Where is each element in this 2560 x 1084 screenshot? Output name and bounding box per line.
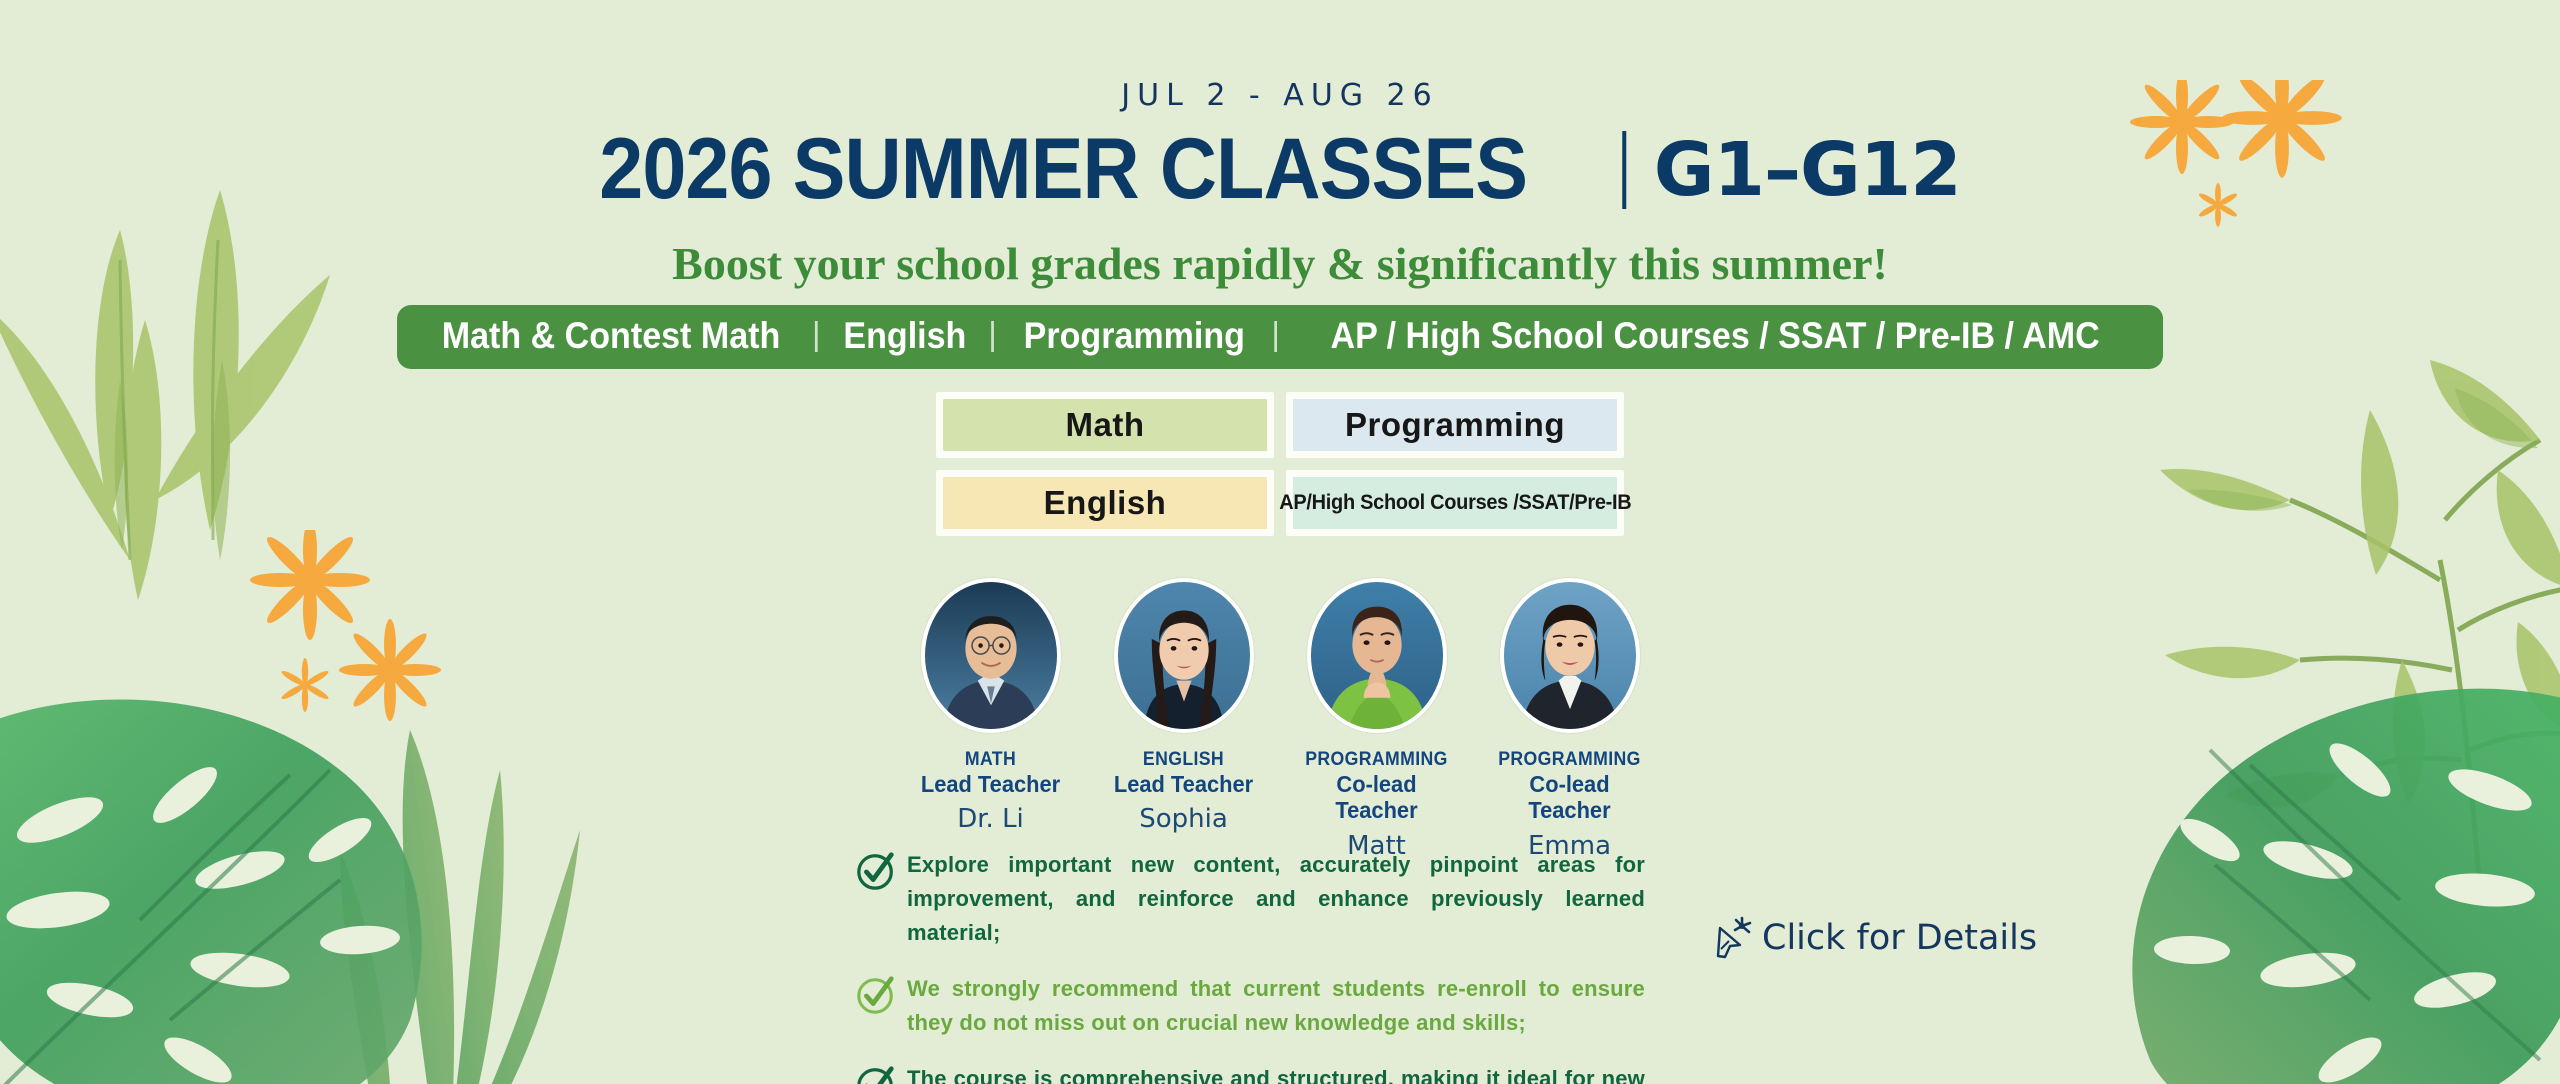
course-separator-3: | <box>1271 315 1280 353</box>
category-tile-grid: Math Programming English AP/High School … <box>936 392 1624 536</box>
teacher-role: Lead Teacher <box>912 771 1069 797</box>
category-tile-ap-label: AP/High School Courses /SSAT/Pre-IB <box>1279 491 1631 515</box>
check-circle-icon <box>855 850 907 892</box>
benefit-item: The course is comprehensive and structur… <box>855 1062 1645 1084</box>
category-tile-english[interactable]: English <box>936 470 1274 536</box>
avatar <box>1307 578 1447 733</box>
teacher-card-programming-emma: PROGRAMMING Co-lead Teacher Emma <box>1487 578 1652 861</box>
benefit-text: Explore important new content, accuratel… <box>907 848 1645 950</box>
check-circle-icon <box>855 1064 907 1084</box>
course-separator-1: | <box>812 315 821 353</box>
category-tile-math-label: Math <box>1066 406 1145 444</box>
course-separator-2: | <box>988 315 997 353</box>
benefit-item: Explore important new content, accuratel… <box>855 848 1645 950</box>
page-subtitle: Boost your school grades rapidly & signi… <box>672 237 1888 290</box>
category-tile-ap[interactable]: AP/High School Courses /SSAT/Pre-IB <box>1286 470 1624 536</box>
category-tile-english-label: English <box>1044 484 1167 522</box>
benefits-list: Explore important new content, accuratel… <box>855 848 1645 1084</box>
category-tile-ap-fill: AP/High School Courses /SSAT/Pre-IB <box>1293 477 1617 529</box>
benefit-item: We strongly recommend that current stude… <box>855 972 1645 1040</box>
teacher-name: Dr. Li <box>908 804 1073 834</box>
course-segment-english: English <box>839 315 969 357</box>
title-divider <box>1622 131 1626 209</box>
teacher-name: Sophia <box>1101 804 1266 834</box>
category-tile-programming-label: Programming <box>1345 406 1565 444</box>
category-tile-programming-fill: Programming <box>1293 399 1617 451</box>
avatar <box>1114 578 1254 733</box>
teacher-role: Co-lead Teacher <box>1491 771 1648 824</box>
avatar <box>1500 578 1640 733</box>
avatar <box>921 578 1061 733</box>
teacher-list: MATH Lead Teacher Dr. Li <box>908 578 1652 861</box>
category-tile-programming[interactable]: Programming <box>1286 392 1624 458</box>
check-circle-icon <box>855 974 907 1016</box>
benefit-text: We strongly recommend that current stude… <box>907 972 1645 1040</box>
teacher-subject: ENGLISH <box>1107 749 1260 771</box>
page-title: 2026 SUMMER CLASSES G1–G12 <box>599 120 1960 219</box>
benefit-text: The course is comprehensive and structur… <box>907 1062 1645 1084</box>
category-tile-math-fill: Math <box>943 399 1267 451</box>
date-range: JUL 2 - AUG 26 <box>1121 78 1438 113</box>
cursor-click-icon <box>1712 916 1752 960</box>
category-tile-english-fill: English <box>943 477 1267 529</box>
course-segment-ap: AP / High School Courses / SSAT / Pre-IB… <box>1327 315 2104 357</box>
teacher-subject: MATH <box>914 749 1067 771</box>
teacher-card-english: ENGLISH Lead Teacher Sophia <box>1101 578 1266 861</box>
course-segment-math: Math & Contest Math <box>438 315 784 357</box>
summer-classes-banner: JUL 2 - AUG 26 2026 SUMMER CLASSES G1–G1… <box>0 0 2560 1084</box>
teacher-subject: PROGRAMMING <box>1493 749 1646 771</box>
teacher-card-programming-matt: PROGRAMMING Co-lead Teacher Matt <box>1294 578 1459 861</box>
course-segment-programming: Programming <box>1020 315 1249 357</box>
click-for-details-cta[interactable]: Click for Details <box>1712 916 2037 960</box>
course-list-banner: Math & Contest Math | English | Programm… <box>397 305 2163 369</box>
page-title-main: 2026 SUMMER CLASSES <box>599 120 1527 219</box>
teacher-card-math: MATH Lead Teacher Dr. Li <box>908 578 1073 861</box>
teacher-subject: PROGRAMMING <box>1300 749 1453 771</box>
teacher-role: Co-lead Teacher <box>1298 771 1455 824</box>
category-tile-math[interactable]: Math <box>936 392 1274 458</box>
teacher-role: Lead Teacher <box>1105 771 1262 797</box>
page-title-grades: G1–G12 <box>1654 127 1961 213</box>
click-for-details-label: Click for Details <box>1762 918 2037 958</box>
